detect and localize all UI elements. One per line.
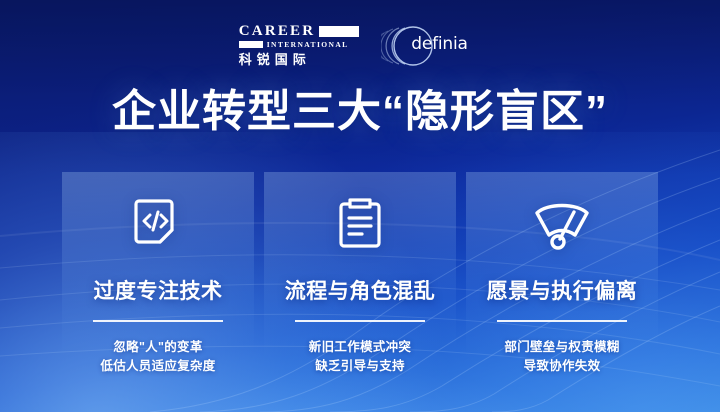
definia-wordmark: definia [411,36,467,53]
career-logo-bar-small [239,41,263,48]
career-chinese-name: 科锐国际 [239,53,360,68]
gauge-icon [466,194,658,256]
definia-logo: definia [381,25,481,67]
card-divider [93,320,223,322]
clipboard-icon [264,194,456,256]
card-description-line2: 缺乏引导与支持 [264,357,456,376]
card-overfocus-technology[interactable]: 过度专注技术 忽略"人"的变革 低估人员适应复杂度 [62,172,254,382]
card-description-line1: 忽略"人"的变革 [62,338,254,357]
logo-row: CAREER INTERNATIONAL 科锐国际 defini [0,24,720,67]
career-logo-bar [319,26,359,37]
career-wordmark: CAREER [239,24,316,39]
career-subwordmark: INTERNATIONAL [267,41,349,49]
career-international-logo: CAREER INTERNATIONAL 科锐国际 [239,24,360,67]
card-row: 过度专注技术 忽略"人"的变革 低估人员适应复杂度 流程与角色混乱 新旧工 [62,172,658,382]
card-divider [295,320,425,322]
card-title: 过度专注技术 [62,281,254,302]
card-description-line1: 新旧工作模式冲突 [264,338,456,357]
card-description: 忽略"人"的变革 低估人员适应复杂度 [62,338,254,377]
card-process-role-chaos[interactable]: 流程与角色混乱 新旧工作模式冲突 缺乏引导与支持 [264,172,456,382]
card-description-line1: 部门壁垒与权责模糊 [466,338,658,357]
page-title: 企业转型三大“隐形盲区” [0,88,720,136]
card-description: 新旧工作模式冲突 缺乏引导与支持 [264,338,456,377]
card-vision-execution-gap[interactable]: 愿景与执行偏离 部门壁垒与权责模糊 导致协作失效 [466,172,658,382]
card-description-line2: 低估人员适应复杂度 [62,357,254,376]
card-description-line2: 导致协作失效 [466,357,658,376]
poster-canvas: CAREER INTERNATIONAL 科锐国际 defini [0,0,720,412]
card-description: 部门壁垒与权责模糊 导致协作失效 [466,338,658,377]
code-document-icon [62,194,254,256]
card-divider [497,320,627,322]
card-title: 愿景与执行偏离 [466,281,658,302]
card-title: 流程与角色混乱 [264,281,456,302]
